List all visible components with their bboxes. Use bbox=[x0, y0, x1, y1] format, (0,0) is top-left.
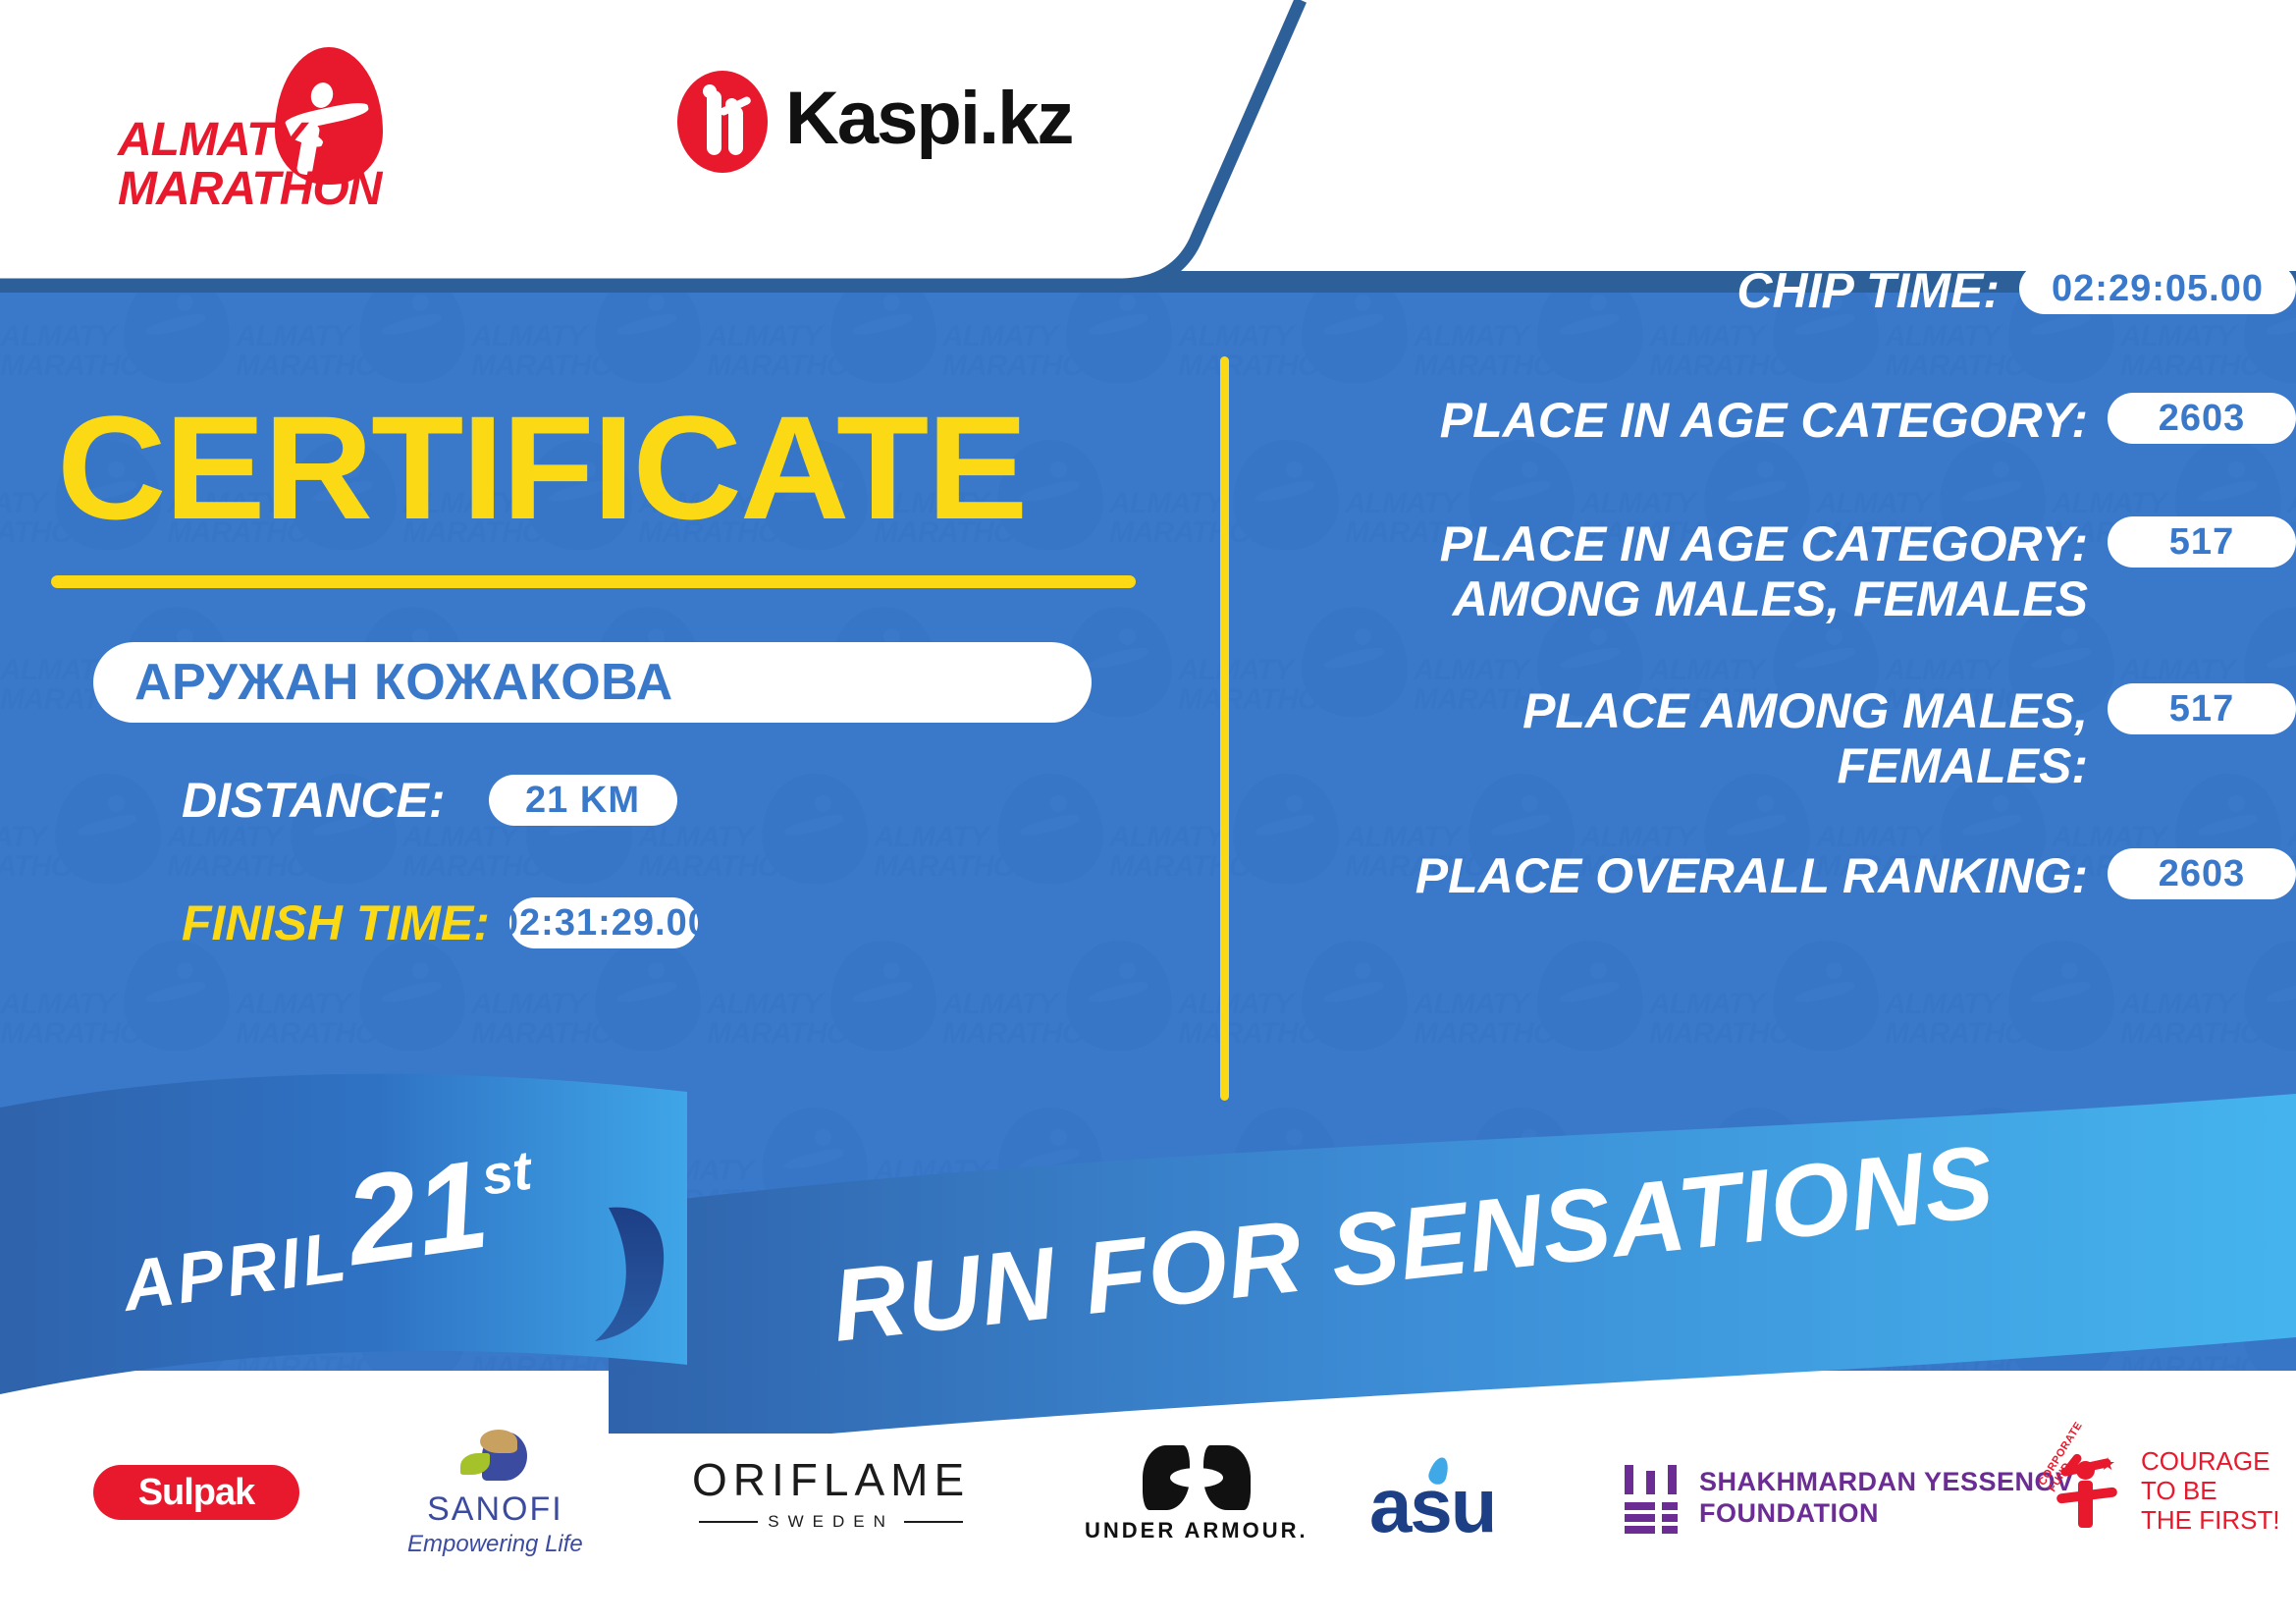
place-age-category-label: PLACE IN AGE CATEGORY: bbox=[1229, 393, 2108, 448]
place-among-gender-label: PLACE AMONG MALES, FEMALES: bbox=[1229, 683, 2108, 793]
place-age-category-value-chip: 2603 bbox=[2108, 393, 2296, 444]
sulpak-logo: Sulpak bbox=[93, 1465, 299, 1520]
event-day-suffix: st bbox=[478, 1139, 535, 1207]
oriflame-sub-wordmark: SWEDEN bbox=[692, 1512, 970, 1532]
yessenov-line-1: SHAKHMARDAN YESSENOV bbox=[1699, 1466, 2074, 1497]
certificate-title: CERTIFICATE bbox=[57, 394, 1026, 541]
place-among-gender-value: 517 bbox=[2169, 688, 2234, 731]
distance-row: DISTANCE: 21 KM bbox=[182, 772, 677, 829]
wordmark-line-2: MARATHON bbox=[118, 165, 393, 214]
sponsor-yessenov-foundation: SHAKHMARDAN YESSENOV FOUNDATION bbox=[1625, 1465, 2074, 1530]
kaspi-badge-icon bbox=[677, 71, 768, 173]
yessenov-mark-icon bbox=[1625, 1465, 1680, 1530]
sanofi-wordmark: SANOFI bbox=[407, 1490, 583, 1529]
sponsor-sanofi: SANOFI Empowering Life bbox=[407, 1432, 583, 1558]
place-age-category-gender-row: PLACE IN AGE CATEGORY: AMONG MALES, FEMA… bbox=[1229, 516, 2296, 626]
place-age-category-gender-value: 517 bbox=[2169, 521, 2234, 564]
finish-time-value-chip: 02:31:29.00 bbox=[509, 897, 698, 948]
kaspi-figure-adult-head-icon bbox=[703, 84, 717, 98]
kaspi-figure-adult-icon bbox=[707, 90, 721, 155]
certificate-page: ALMATYMARATHONALMATYMARATHONALMATYMARATH… bbox=[0, 0, 2296, 1624]
finish-time-label: FINISH TIME: bbox=[182, 894, 490, 951]
chip-time-label: CHIP TIME: bbox=[1229, 263, 2019, 318]
sponsor-asu: asu bbox=[1369, 1461, 1495, 1550]
corporate-fund-wordmark: COURAGE TO BE THE FIRST! bbox=[2141, 1446, 2280, 1535]
place-age-category-gender-label: PLACE IN AGE CATEGORY: AMONG MALES, FEMA… bbox=[1229, 516, 2108, 626]
place-overall-row: PLACE OVERALL RANKING: 2603 bbox=[1229, 848, 2296, 903]
kaspi-figure-child-head-icon bbox=[725, 98, 738, 111]
sponsor-under-armour: UNDER ARMOUR. bbox=[1085, 1445, 1308, 1543]
sponsor-oriflame: ORIFLAME SWEDEN bbox=[692, 1453, 970, 1532]
star-icon: ★ bbox=[2100, 1455, 2115, 1473]
label-line-1: PLACE IN AGE CATEGORY: bbox=[1229, 516, 2088, 571]
place-overall-label: PLACE OVERALL RANKING: bbox=[1229, 848, 2108, 903]
sponsor-sulpak: Sulpak bbox=[93, 1465, 299, 1520]
column-divider bbox=[1220, 356, 1229, 1101]
place-age-category-value: 2603 bbox=[2159, 398, 2246, 440]
yessenov-logo: SHAKHMARDAN YESSENOV FOUNDATION bbox=[1625, 1465, 2074, 1530]
place-age-category-gender-value-chip: 517 bbox=[2108, 516, 2296, 568]
finish-time-row: FINISH TIME: 02:31:29.00 bbox=[182, 894, 698, 951]
chip-time-value-chip: 02:29:05.00 bbox=[2019, 263, 2296, 314]
chip-time-row: CHIP TIME: 02:29:05.00 bbox=[1229, 263, 2296, 318]
kaspi-logo: Kaspi.kz bbox=[677, 69, 1090, 177]
distance-value: 21 KM bbox=[525, 780, 640, 822]
sanofi-tagline: Empowering Life bbox=[407, 1531, 583, 1558]
cf-line-2: TO BE bbox=[2141, 1476, 2280, 1505]
kaspi-figure-child-icon bbox=[728, 106, 743, 155]
participant-name: АРУЖАН КОЖАКОВА bbox=[134, 653, 673, 712]
oriflame-wordmark: ORIFLAME bbox=[692, 1453, 970, 1506]
corporate-fund-mark-icon: CORPORATE FUND ★ bbox=[2037, 1445, 2127, 1536]
participant-name-field: АРУЖАН КОЖАКОВА bbox=[93, 642, 1092, 723]
almaty-marathon-wordmark: ALMATY MARATHON bbox=[118, 116, 393, 214]
event-ribbon: APRIL 21st RUN FOR SENSATIONS bbox=[0, 1070, 2296, 1434]
oriflame-logo: ORIFLAME SWEDEN bbox=[692, 1453, 970, 1532]
under-armour-wordmark: UNDER ARMOUR. bbox=[1085, 1518, 1308, 1543]
event-day: 21 bbox=[338, 1134, 496, 1292]
under-armour-logo: UNDER ARMOUR. bbox=[1085, 1445, 1308, 1543]
place-overall-value: 2603 bbox=[2159, 853, 2246, 895]
under-armour-mark-icon bbox=[1143, 1445, 1251, 1510]
kaspi-wordmark: Kaspi.kz bbox=[785, 75, 1072, 163]
place-among-gender-value-chip: 517 bbox=[2108, 683, 2296, 734]
chip-time-value: 02:29:05.00 bbox=[2052, 268, 2264, 310]
almaty-marathon-logo: ALMATY MARATHON bbox=[118, 47, 412, 204]
asu-logo: asu bbox=[1369, 1461, 1495, 1550]
place-overall-value-chip: 2603 bbox=[2108, 848, 2296, 899]
sanofi-mark-icon bbox=[458, 1432, 531, 1487]
title-underline bbox=[51, 575, 1136, 588]
cf-line-1: COURAGE bbox=[2141, 1446, 2280, 1476]
place-age-category-row: PLACE IN AGE CATEGORY: 2603 bbox=[1229, 393, 2296, 448]
label-line-2: AMONG MALES, FEMALES bbox=[1229, 571, 2088, 626]
sanofi-logo: SANOFI Empowering Life bbox=[407, 1432, 583, 1558]
cf-line-3: THE FIRST! bbox=[2141, 1505, 2280, 1535]
corporate-fund-logo: CORPORATE FUND ★ COURAGE TO BE THE FIRST… bbox=[2037, 1445, 2280, 1536]
place-among-gender-row: PLACE AMONG MALES, FEMALES: 517 bbox=[1229, 683, 2296, 793]
distance-value-chip: 21 KM bbox=[489, 775, 677, 826]
label-line-2: FEMALES: bbox=[1229, 738, 2088, 793]
wordmark-line-1: ALMATY bbox=[118, 116, 393, 165]
finish-time-value: 02:31:29.00 bbox=[498, 902, 710, 945]
yessenov-line-2: FOUNDATION bbox=[1699, 1497, 2074, 1529]
label-line-1: PLACE AMONG MALES, bbox=[1229, 683, 2088, 738]
yessenov-wordmark: SHAKHMARDAN YESSENOV FOUNDATION bbox=[1699, 1466, 2074, 1529]
distance-label: DISTANCE: bbox=[182, 772, 446, 829]
header-logos: ALMATY MARATHON Kaspi.kz bbox=[0, 0, 1178, 271]
sponsor-corporate-fund: CORPORATE FUND ★ COURAGE TO BE THE FIRST… bbox=[2037, 1445, 2280, 1536]
